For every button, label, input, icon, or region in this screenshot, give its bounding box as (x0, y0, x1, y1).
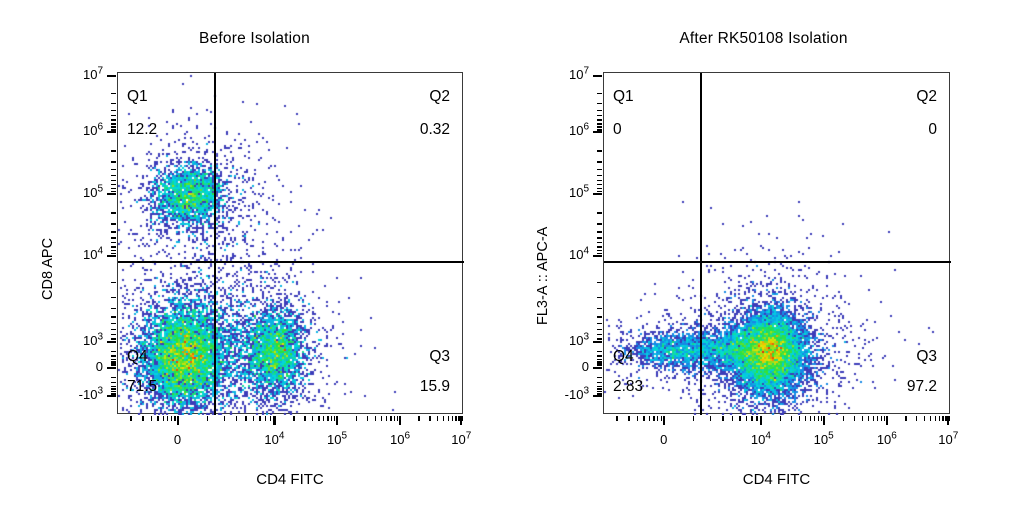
x-tick-minor (877, 416, 878, 421)
y-tick-minor (111, 103, 116, 104)
x-tick-minor (130, 416, 131, 421)
x-tick-minor (664, 416, 665, 421)
y-tick-major (593, 193, 602, 195)
x-tick-minor (810, 416, 811, 421)
x-tick-minor (207, 416, 208, 421)
x-tick-minor (452, 416, 453, 421)
quadrant-divider-vertical[interactable] (700, 73, 702, 415)
quadrant-divider-vertical[interactable] (214, 73, 216, 415)
y-tick-label: 105 (59, 185, 103, 200)
x-tick-minor (637, 416, 638, 421)
x-tick-minor (916, 416, 917, 421)
y-tick-minor (597, 377, 602, 378)
y-tick-label: 106 (545, 123, 589, 138)
y-tick-minor (597, 126, 602, 127)
x-tick-minor (400, 416, 401, 421)
y-tick-minor (111, 180, 116, 181)
y-tick-minor (597, 242, 602, 243)
x-tick-minor (178, 416, 179, 421)
figure-root: Before Isolation CD8 APC Q1 12.2 Q2 0.32… (0, 0, 1018, 521)
x-tick-minor (843, 416, 844, 421)
plot-area[interactable]: Q1 12.2 Q2 0.32 Q3 15.9 Q4 71.5 (117, 72, 463, 414)
x-tick-minor (394, 416, 395, 421)
y-tick-minor (111, 237, 116, 238)
quadrant-q4-name: Q4 (127, 348, 148, 366)
y-tick-minor (597, 212, 602, 213)
y-tick-minor (597, 329, 602, 330)
quadrant-q3-name: Q3 (916, 348, 937, 366)
quadrant-q1-name: Q1 (127, 88, 148, 106)
quadrant-q1-value: 12.2 (127, 121, 157, 139)
x-tick-minor (318, 416, 319, 421)
x-tick-minor (356, 416, 357, 421)
y-tick-minor (597, 150, 602, 151)
y-tick-major (593, 255, 602, 257)
x-tick-minor (167, 416, 168, 421)
x-tick-minor (661, 416, 662, 421)
x-tick-minor (157, 416, 158, 421)
y-tick-minor (597, 250, 602, 251)
y-tick-label: 0 (545, 359, 589, 374)
x-tick-label: 104 (735, 432, 787, 447)
y-tick-minor (111, 246, 116, 247)
y-tick-major (107, 131, 116, 133)
y-tick-minor (111, 386, 116, 387)
plot-area[interactable]: Q1 0 Q2 0 Q3 97.2 Q4 2.83 (603, 72, 950, 414)
y-tick-minor (111, 368, 116, 369)
y-tick-minor (597, 175, 602, 176)
x-tick-minor (461, 416, 462, 421)
x-tick-minor (270, 416, 271, 421)
y-tick-minor (597, 223, 602, 224)
x-tick-minor (245, 416, 246, 421)
y-tick-minor (111, 123, 116, 124)
x-tick-minor (331, 416, 332, 421)
x-tick-minor (905, 416, 906, 421)
y-tick-minor (111, 191, 116, 192)
y-tick-minor (111, 188, 116, 189)
y-tick-minor (597, 119, 602, 120)
y-tick-minor (597, 316, 602, 317)
y-tick-minor (111, 382, 116, 383)
y-tick-minor (597, 334, 602, 335)
x-tick-minor (304, 416, 305, 421)
x-tick-minor (381, 416, 382, 421)
y-tick-minor (111, 355, 116, 356)
x-tick-minor (643, 416, 644, 421)
y-tick-minor (597, 188, 602, 189)
panel-title: After RK50108 Isolation (509, 30, 1018, 48)
x-tick-minor (429, 416, 430, 421)
y-tick-minor (597, 110, 602, 111)
y-tick-minor (111, 119, 116, 120)
y-tick-minor (111, 169, 116, 170)
x-tick-minor (323, 416, 324, 421)
quadrant-q1-name: Q1 (613, 88, 634, 106)
quadrant-q3-value: 15.9 (420, 378, 450, 396)
quadrant-divider-horizontal[interactable] (604, 261, 951, 263)
y-tick-minor (597, 184, 602, 185)
y-tick-label: 104 (545, 247, 589, 262)
quadrant-q2-value: 0.32 (420, 121, 450, 139)
x-tick-minor (151, 416, 152, 421)
y-tick-minor (111, 282, 116, 283)
y-tick-label: 103 (59, 333, 103, 348)
x-tick-minor (887, 416, 888, 421)
x-tick-minor (448, 416, 449, 421)
x-tick-minor (761, 416, 762, 421)
x-tick-minor (458, 416, 459, 421)
y-tick-minor (597, 93, 602, 94)
scatter-canvas (604, 73, 951, 415)
quadrant-q4-value: 71.5 (127, 378, 157, 396)
scatter-canvas (118, 73, 464, 415)
x-tick-minor (386, 416, 387, 421)
y-tick-minor (111, 329, 116, 330)
x-tick-minor (873, 416, 874, 421)
x-tick-minor (653, 416, 654, 421)
x-axis-label: CD4 FITC (117, 471, 463, 488)
y-tick-minor (111, 93, 116, 94)
x-tick-minor (628, 416, 629, 421)
x-tick-label: 0 (638, 432, 690, 447)
x-tick-minor (739, 416, 740, 421)
x-tick-minor (163, 416, 164, 421)
quadrant-q2-name: Q2 (916, 88, 937, 106)
x-tick-minor (455, 416, 456, 421)
y-tick-major (593, 131, 602, 133)
y-tick-minor (597, 161, 602, 162)
y-tick-label: 104 (59, 247, 103, 262)
y-tick-minor (597, 246, 602, 247)
x-tick-minor (390, 416, 391, 421)
x-tick-minor (443, 416, 444, 421)
y-tick-minor (111, 359, 116, 360)
y-tick-minor (597, 237, 602, 238)
x-tick-minor (791, 416, 792, 421)
y-tick-minor (111, 308, 116, 309)
quadrant-q3-name: Q3 (429, 348, 450, 366)
x-tick-label: 106 (374, 432, 426, 447)
y-tick-minor (111, 115, 116, 116)
y-tick-minor (111, 223, 116, 224)
y-tick-minor (111, 231, 116, 232)
panel-before-isolation: Before Isolation CD8 APC Q1 12.2 Q2 0.32… (0, 0, 509, 521)
x-tick-minor (657, 416, 658, 421)
y-tick-major (107, 193, 116, 195)
x-tick-minor (293, 416, 294, 421)
y-tick-minor (597, 231, 602, 232)
y-tick-minor (111, 212, 116, 213)
x-tick-minor (862, 416, 863, 421)
x-tick-minor (142, 416, 143, 421)
y-tick-major (107, 341, 116, 343)
panel-title: Before Isolation (0, 30, 509, 48)
y-tick-minor (597, 123, 602, 124)
x-tick-minor (437, 416, 438, 421)
x-tick-label: 107 (922, 432, 974, 447)
quadrant-q2-name: Q2 (429, 88, 450, 106)
x-tick-minor (334, 416, 335, 421)
y-tick-minor (597, 253, 602, 254)
x-tick-minor (418, 416, 419, 421)
y-tick-minor (111, 377, 116, 378)
x-tick-minor (751, 416, 752, 421)
x-tick-label: 104 (248, 432, 300, 447)
y-tick-minor (111, 110, 116, 111)
x-tick-minor (337, 416, 338, 421)
y-tick-minor (597, 169, 602, 170)
x-tick-minor (881, 416, 882, 421)
y-tick-major (107, 75, 116, 77)
y-tick-minor (111, 250, 116, 251)
y-tick-major (107, 255, 116, 257)
y-tick-label: 0 (59, 359, 103, 374)
y-tick-minor (111, 150, 116, 151)
y-tick-minor (111, 396, 116, 397)
x-tick-minor (854, 416, 855, 421)
x-tick-minor (174, 416, 175, 421)
x-tick-minor (171, 416, 172, 421)
quadrant-q3-value: 97.2 (907, 378, 937, 396)
x-tick-minor (942, 416, 943, 421)
y-tick-minor (597, 338, 602, 339)
y-tick-label: -103 (59, 387, 103, 402)
x-tick-label: 0 (152, 432, 204, 447)
y-tick-minor (597, 386, 602, 387)
y-tick-minor (597, 282, 602, 283)
x-tick-minor (799, 416, 800, 421)
y-tick-minor (597, 361, 602, 362)
x-tick-minor (780, 416, 781, 421)
y-tick-minor (597, 191, 602, 192)
x-tick-minor (327, 416, 328, 421)
y-tick-minor (111, 316, 116, 317)
y-tick-minor (111, 297, 116, 298)
y-tick-minor (597, 115, 602, 116)
y-tick-minor (597, 388, 602, 389)
y-tick-minor (111, 323, 116, 324)
y-tick-minor (111, 129, 116, 130)
y-axis-label: CD8 APC (40, 238, 56, 300)
y-tick-minor (597, 297, 602, 298)
y-tick-minor (111, 175, 116, 176)
panel-after-isolation: After RK50108 Isolation FL3-A :: APC-A Q… (509, 0, 1018, 521)
y-tick-minor (597, 103, 602, 104)
x-tick-minor (274, 416, 275, 421)
quadrant-q4-name: Q4 (613, 348, 634, 366)
y-tick-minor (597, 396, 602, 397)
quadrant-divider-horizontal[interactable] (118, 261, 464, 263)
y-tick-major (593, 341, 602, 343)
y-tick-minor (597, 308, 602, 309)
x-tick-minor (693, 416, 694, 421)
x-tick-minor (253, 416, 254, 421)
x-tick-minor (868, 416, 869, 421)
x-tick-minor (756, 416, 757, 421)
x-tick-minor (367, 416, 368, 421)
x-tick-minor (924, 416, 925, 421)
x-tick-minor (236, 416, 237, 421)
x-tick-label: 107 (435, 432, 487, 447)
x-tick-minor (945, 416, 946, 421)
y-tick-label: 103 (545, 333, 589, 348)
x-tick-minor (884, 416, 885, 421)
y-tick-label: -103 (545, 387, 589, 402)
y-tick-minor (597, 368, 602, 369)
x-tick-minor (948, 416, 949, 421)
y-tick-label: 107 (545, 67, 589, 82)
x-tick-minor (397, 416, 398, 421)
y-tick-minor (597, 129, 602, 130)
x-tick-minor (824, 416, 825, 421)
x-tick-label: 106 (861, 432, 913, 447)
x-tick-label: 105 (311, 432, 363, 447)
x-tick-label: 105 (798, 432, 850, 447)
y-tick-major (593, 75, 602, 77)
quadrant-q1-value: 0 (613, 121, 622, 139)
y-tick-minor (597, 355, 602, 356)
y-tick-minor (111, 126, 116, 127)
y-tick-label: 107 (59, 67, 103, 82)
y-tick-label: 106 (59, 123, 103, 138)
x-tick-minor (224, 416, 225, 421)
y-tick-minor (597, 351, 602, 352)
x-tick-minor (375, 416, 376, 421)
x-tick-minor (265, 416, 266, 421)
x-tick-minor (616, 416, 617, 421)
x-tick-minor (312, 416, 313, 421)
x-tick-minor (930, 416, 931, 421)
y-tick-minor (597, 180, 602, 181)
x-tick-minor (805, 416, 806, 421)
x-tick-minor (649, 416, 650, 421)
y-tick-minor (111, 334, 116, 335)
x-tick-minor (259, 416, 260, 421)
y-axis-label: FL3-A :: APC-A (535, 227, 551, 325)
x-tick-minor (818, 416, 819, 421)
x-tick-minor (939, 416, 940, 421)
y-tick-minor (111, 253, 116, 254)
x-tick-minor (814, 416, 815, 421)
y-tick-label: 105 (545, 185, 589, 200)
x-tick-minor (746, 416, 747, 421)
y-tick-minor (111, 351, 116, 352)
y-tick-minor (111, 242, 116, 243)
quadrant-q2-value: 0 (928, 121, 937, 139)
x-tick-minor (935, 416, 936, 421)
y-tick-minor (111, 161, 116, 162)
y-tick-minor (111, 388, 116, 389)
y-tick-minor (597, 359, 602, 360)
y-tick-minor (597, 323, 602, 324)
x-tick-minor (722, 416, 723, 421)
x-tick-minor (821, 416, 822, 421)
y-tick-minor (111, 184, 116, 185)
y-tick-minor (111, 338, 116, 339)
y-tick-minor (597, 382, 602, 383)
x-tick-minor (732, 416, 733, 421)
quadrant-q4-value: 2.83 (613, 378, 643, 396)
x-tick-minor (710, 416, 711, 421)
x-axis-label: CD4 FITC (603, 471, 950, 488)
y-tick-minor (111, 361, 116, 362)
